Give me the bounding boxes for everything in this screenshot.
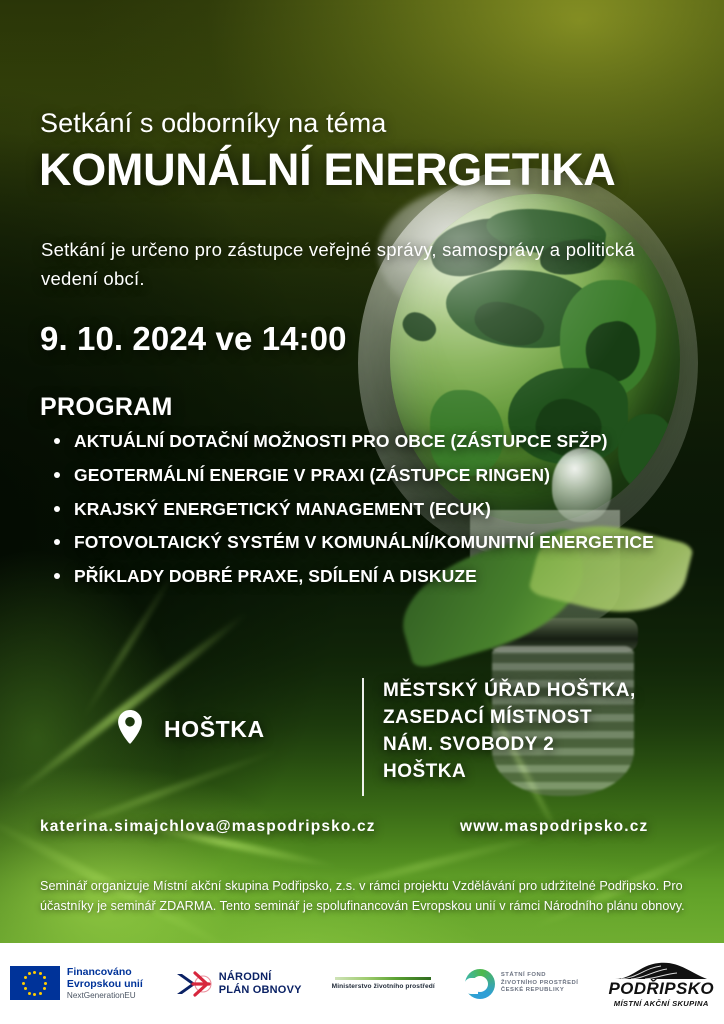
- kicker-text: Setkání s odborníky na téma: [40, 108, 386, 139]
- npo-logo-line1: NÁRODNÍ: [219, 971, 302, 984]
- mzp-logo-caption: Ministerstvo životního prostředí: [332, 983, 435, 990]
- sfzp-logo-line3: ČESKÉ REPUBLIKY: [501, 987, 579, 995]
- podripsko-logo-name: PODŘIPSKO: [608, 979, 714, 999]
- eu-star-icon: [24, 976, 27, 979]
- venue-address-line: HOŠTKA: [383, 759, 636, 786]
- program-item: FOTOVOLTAICKÝ SYSTÉM V KOMUNÁLNÍ/KOMUNIT…: [74, 529, 688, 556]
- eu-star-icon: [39, 992, 42, 995]
- eu-star-icon: [33, 993, 36, 996]
- narodni-plan-obnovy-logo: NÁRODNÍ PLÁN OBNOVY: [173, 967, 302, 1001]
- eu-star-icon: [44, 982, 47, 985]
- statni-fond-zivotniho-prostredi-logo: STÁTNÍ FOND ŽIVOTNÍHO PROSTŘEDÍ ČESKÉ RE…: [465, 969, 579, 999]
- disclaimer-text: Seminář organizuje Místní akční skupina …: [40, 876, 688, 917]
- eu-star-icon: [39, 972, 42, 975]
- podripsko-mas-logo: PODŘIPSKO MÍSTNÍ AKČNÍ SKUPINA: [608, 960, 714, 1008]
- eu-star-icon: [33, 971, 36, 974]
- eu-star-icon: [28, 992, 31, 995]
- mzp-gradient-bar: [335, 977, 431, 980]
- event-datetime: 9. 10. 2024 ve 14:00: [40, 320, 347, 358]
- page-title: KOMUNÁLNÍ ENERGETIKA: [39, 146, 616, 193]
- map-pin-icon: [117, 710, 143, 744]
- funding-logo-bar: Financováno Evropskou unií NextGeneratio…: [0, 943, 724, 1024]
- venue-city: HOŠTKA: [164, 716, 265, 743]
- eu-logo-line3: NextGenerationEU: [67, 991, 143, 1001]
- eu-next-generation-logo: Financováno Evropskou unií NextGeneratio…: [10, 966, 143, 1001]
- venue-block: HOŠTKA MĚSTSKÝ ÚŘAD HOŠTKA,ZASEDACÍ MÍST…: [40, 676, 684, 798]
- venue-address-line: ZASEDACÍ MÍSTNOST: [383, 705, 636, 732]
- program-heading: PROGRAM: [40, 393, 173, 422]
- eu-flag-icon: [10, 966, 60, 1000]
- sfzp-logo-line1: STÁTNÍ FOND: [501, 972, 579, 980]
- sfzp-ring-icon: [465, 969, 495, 999]
- program-item: KRAJSKÝ ENERGETICKÝ MANAGEMENT (ECUK): [74, 496, 688, 523]
- npo-logo-line2: PLÁN OBNOVY: [219, 984, 302, 997]
- contact-website[interactable]: www.maspodripsko.cz: [460, 818, 648, 836]
- event-poster: Setkání s odborníky na téma KOMUNÁLNÍ EN…: [0, 0, 724, 1024]
- program-item: AKTUÁLNÍ DOTAČNÍ MOŽNOSTI PRO OBCE (ZÁST…: [74, 428, 688, 455]
- program-list: AKTUÁLNÍ DOTAČNÍ MOŽNOSTI PRO OBCE (ZÁST…: [48, 428, 688, 597]
- eu-logo-line2: Evropskou unií: [67, 978, 143, 990]
- program-item: PŘÍKLADY DOBRÉ PRAXE, SDÍLENÍ A DISKUZE: [74, 563, 688, 590]
- venue-address-line: NÁM. SVOBODY 2: [383, 732, 636, 759]
- venue-address-line: MĚSTSKÝ ÚŘAD HOŠTKA,: [383, 678, 636, 705]
- podripsko-logo-tagline: MÍSTNÍ AKČNÍ SKUPINA: [614, 999, 709, 1008]
- eu-star-icon: [24, 987, 27, 990]
- eu-logo-line1: Financováno: [67, 966, 143, 978]
- lede-text: Setkání je určeno pro zástupce veřejné s…: [41, 236, 691, 293]
- npo-arrow-icon: [173, 967, 213, 1001]
- poster-content: Setkání s odborníky na téma KOMUNÁLNÍ EN…: [0, 0, 724, 1024]
- venue-address: MĚSTSKÝ ÚŘAD HOŠTKA,ZASEDACÍ MÍSTNOSTNÁM…: [383, 678, 636, 786]
- ministerstvo-zivotniho-prostredi-logo: Ministerstvo životního prostředí: [332, 977, 435, 990]
- contact-email[interactable]: katerina.simajchlova@maspodripsko.cz: [40, 818, 376, 836]
- eu-star-icon: [22, 982, 25, 985]
- eu-star-icon: [43, 976, 46, 979]
- eu-star-icon: [43, 987, 46, 990]
- venue-divider: [362, 678, 364, 796]
- program-item: GEOTERMÁLNÍ ENERGIE V PRAXI (ZÁSTUPCE RI…: [74, 462, 688, 489]
- podripsko-hill-icon: [615, 960, 707, 980]
- eu-star-icon: [28, 972, 31, 975]
